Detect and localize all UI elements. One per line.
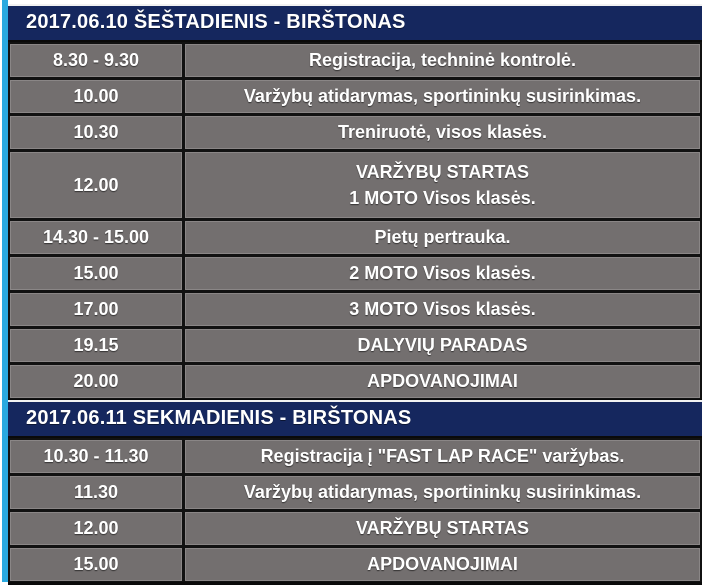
table-body-saturday: 8.30 - 9.30Registracija, techninė kontro… — [8, 42, 702, 399]
table-row: 14.30 - 15.00Pietų pertrauka. — [10, 221, 700, 254]
table-row: 15.002 MOTO Visos klasės. — [10, 257, 700, 290]
row-time-cell: 15.00 — [10, 257, 182, 290]
row-description-line: Varžybų atidarymas, sportininkų susirink… — [244, 83, 641, 109]
table-row: 20.00APDOVANOJIMAI — [10, 365, 700, 398]
row-description-line: VARŽYBŲ STARTAS — [356, 515, 529, 541]
row-time-cell: 12.00 — [10, 152, 182, 218]
row-time-cell: 10.30 - 11.30 — [10, 440, 182, 473]
table-row: 8.30 - 9.30Registracija, techninė kontro… — [10, 44, 700, 77]
table-row: 12.00VARŽYBŲ STARTAS1 MOTO Visos klasės. — [10, 152, 700, 218]
row-time-cell: 12.00 — [10, 512, 182, 545]
schedule-page: 2017.06.10 ŠEŠTADIENIS - BIRŠTONAS 8.30 … — [0, 0, 710, 582]
row-description-cell: Varžybų atidarymas, sportininkų susirink… — [185, 476, 700, 509]
row-description-line: APDOVANOJIMAI — [367, 368, 518, 394]
table-row: 17.003 MOTO Visos klasės. — [10, 293, 700, 326]
row-description-line: Varžybų atidarymas, sportininkų susirink… — [244, 479, 641, 505]
row-description-cell: DALYVIŲ PARADAS — [185, 329, 700, 362]
row-description-line: Pietų pertrauka. — [374, 224, 510, 250]
row-description-cell: APDOVANOJIMAI — [185, 548, 700, 581]
table-row: 12.00VARŽYBŲ STARTAS — [10, 512, 700, 545]
row-description-line: Treniruotė, visos klasės. — [338, 119, 547, 145]
row-description-line: 3 MOTO Visos klasės. — [349, 296, 535, 322]
row-description-line: DALYVIŲ PARADAS — [357, 332, 527, 358]
row-description-cell: 3 MOTO Visos klasės. — [185, 293, 700, 326]
table-row: 10.30 - 11.30Registracija į "FAST LAP RA… — [10, 440, 700, 473]
row-description-cell: Pietų pertrauka. — [185, 221, 700, 254]
row-time-cell: 10.00 — [10, 80, 182, 113]
table-row: 15.00APDOVANOJIMAI — [10, 548, 700, 581]
row-time-cell: 15.00 — [10, 548, 182, 581]
row-time-cell: 20.00 — [10, 365, 182, 398]
row-description-cell: Registracija į "FAST LAP RACE" varžybas. — [185, 440, 700, 473]
table-row: 10.30Treniruotė, visos klasės. — [10, 116, 700, 149]
row-description-line: APDOVANOJIMAI — [367, 551, 518, 577]
table-body-sunday: 10.30 - 11.30Registracija į "FAST LAP RA… — [8, 438, 702, 582]
table-header-sunday: 2017.06.11 SEKMADIENIS - BIRŠTONAS — [8, 402, 702, 438]
table-row: 10.00Varžybų atidarymas, sportininkų sus… — [10, 80, 700, 113]
row-description-line: 2 MOTO Visos klasės. — [349, 260, 535, 286]
schedule-table-sunday: 2017.06.11 SEKMADIENIS - BIRŠTONAS 10.30… — [8, 400, 702, 585]
row-description-cell: VARŽYBŲ STARTAS1 MOTO Visos klasės. — [185, 152, 700, 218]
row-description-cell: APDOVANOJIMAI — [185, 365, 700, 398]
row-description-cell: VARŽYBŲ STARTAS — [185, 512, 700, 545]
row-time-cell: 17.00 — [10, 293, 182, 326]
row-description-line: Registracija, techninė kontrolė. — [309, 47, 576, 73]
schedule-table-saturday: 2017.06.10 ŠEŠTADIENIS - BIRŠTONAS 8.30 … — [8, 4, 702, 402]
row-description-cell: 2 MOTO Visos klasės. — [185, 257, 700, 290]
row-description-line: VARŽYBŲ STARTAS — [356, 159, 529, 185]
row-time-cell: 10.30 — [10, 116, 182, 149]
row-time-cell: 19.15 — [10, 329, 182, 362]
row-time-cell: 11.30 — [10, 476, 182, 509]
row-description-line: Registracija į "FAST LAP RACE" varžybas. — [261, 443, 625, 469]
row-description-cell: Varžybų atidarymas, sportininkų susirink… — [185, 80, 700, 113]
table-header-saturday: 2017.06.10 ŠEŠTADIENIS - BIRŠTONAS — [8, 6, 702, 42]
row-time-cell: 8.30 - 9.30 — [10, 44, 182, 77]
table-row: 11.30Varžybų atidarymas, sportininkų sus… — [10, 476, 700, 509]
row-description-cell: Treniruotė, visos klasės. — [185, 116, 700, 149]
table-row: 19.15DALYVIŲ PARADAS — [10, 329, 700, 362]
row-description-line: 1 MOTO Visos klasės. — [349, 185, 535, 211]
row-description-cell: Registracija, techninė kontrolė. — [185, 44, 700, 77]
row-time-cell: 14.30 - 15.00 — [10, 221, 182, 254]
left-accent-bar — [2, 0, 8, 582]
